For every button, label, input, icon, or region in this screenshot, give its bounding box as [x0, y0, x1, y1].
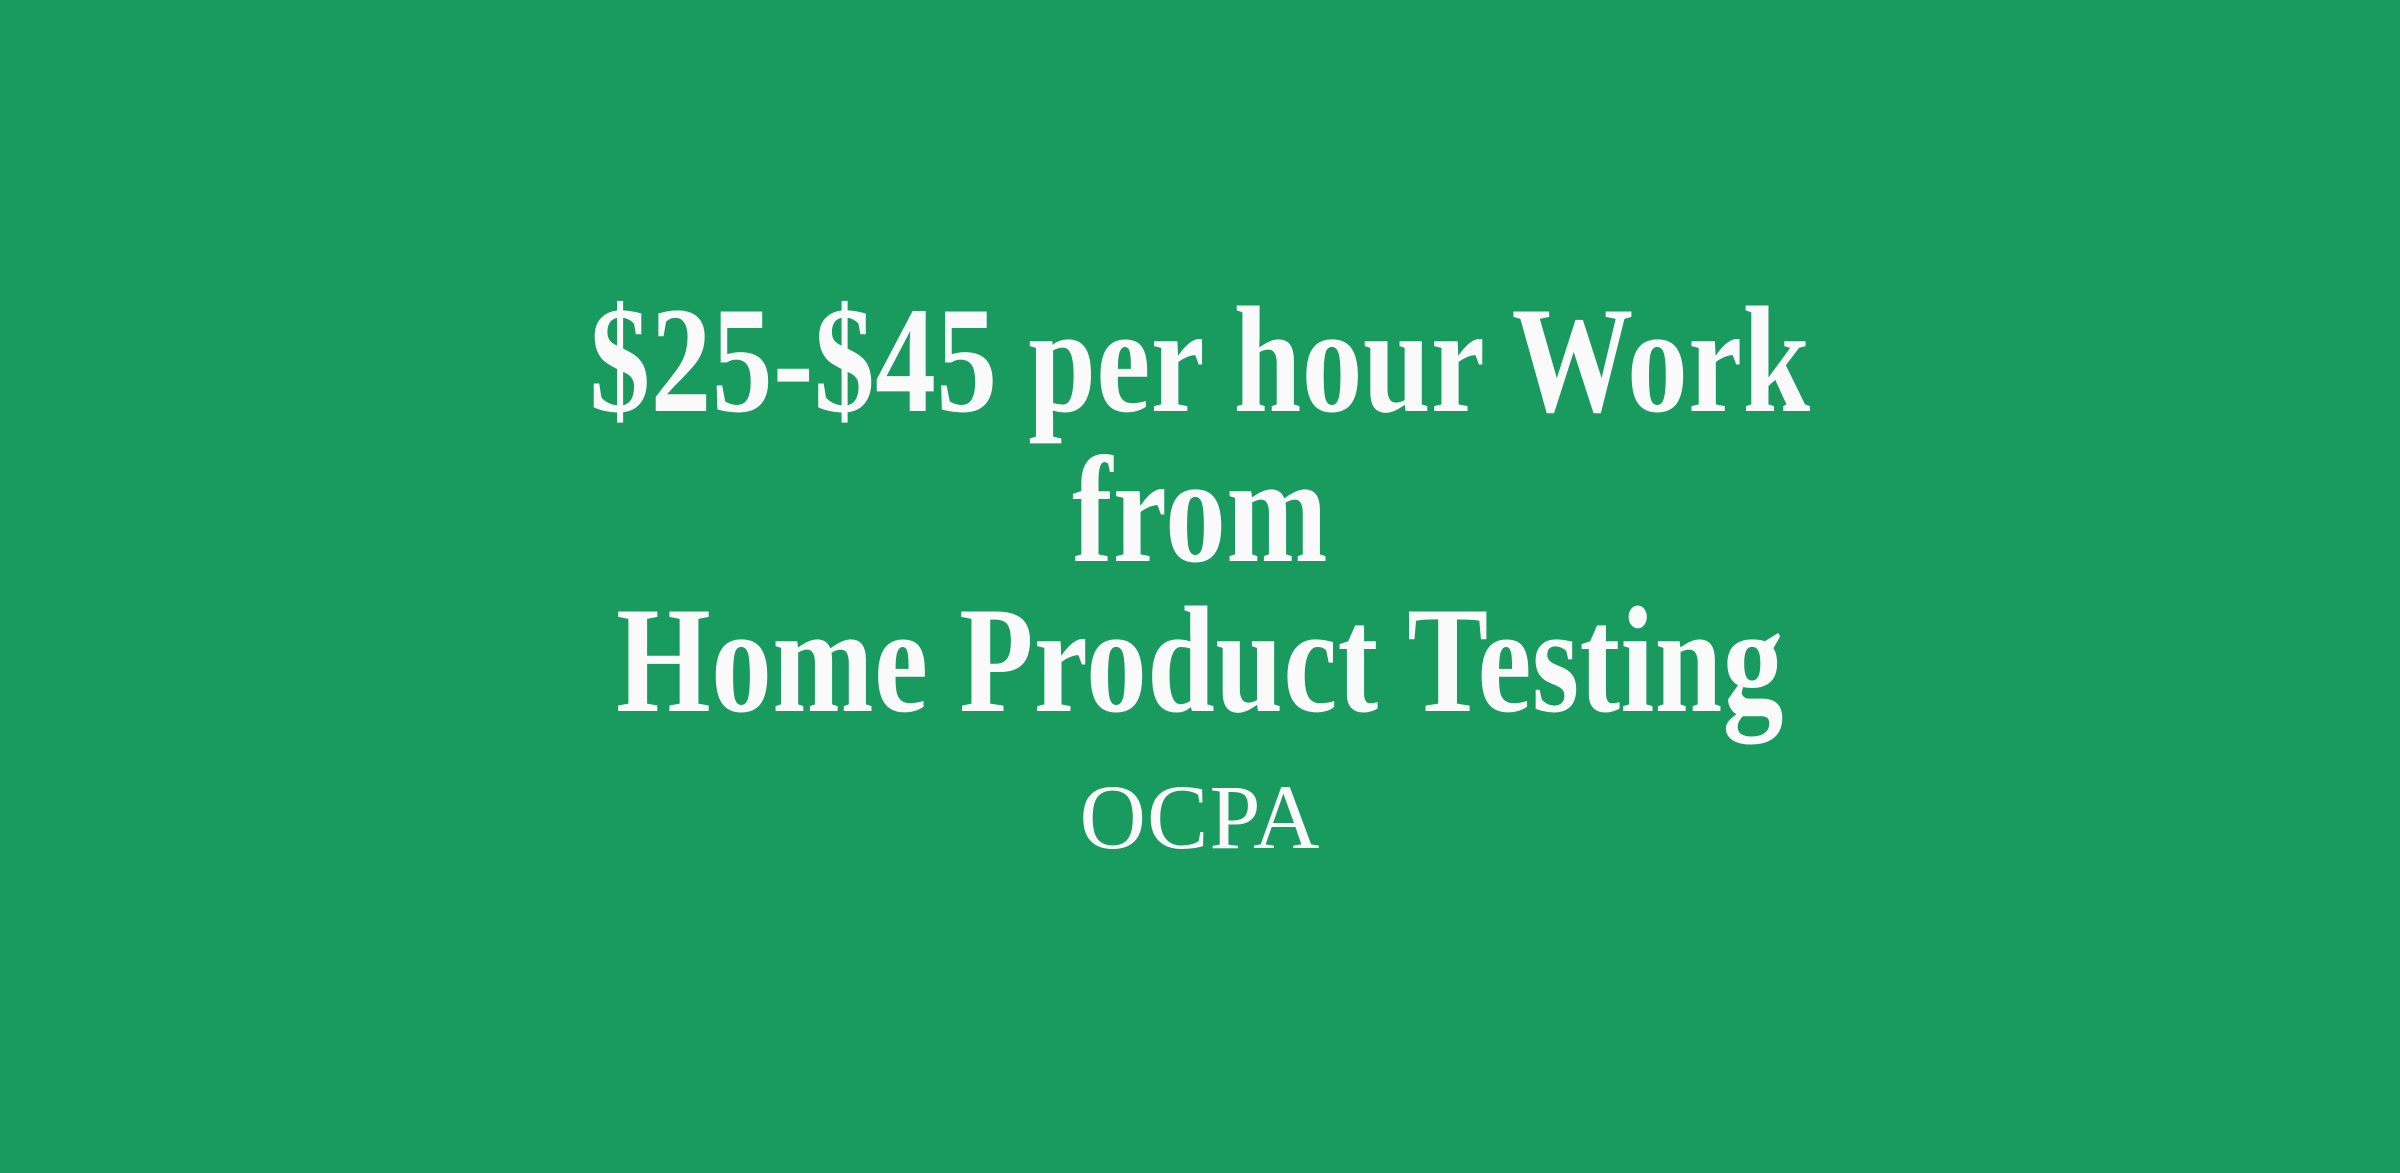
- page-title: $25-$45 per hour Work from Home Product …: [480, 285, 1920, 735]
- card-content: $25-$45 per hour Work from Home Product …: [300, 285, 2100, 865]
- share-card: $25-$45 per hour Work from Home Product …: [0, 0, 2400, 1173]
- subtitle-source-name: OCPA: [300, 769, 2100, 865]
